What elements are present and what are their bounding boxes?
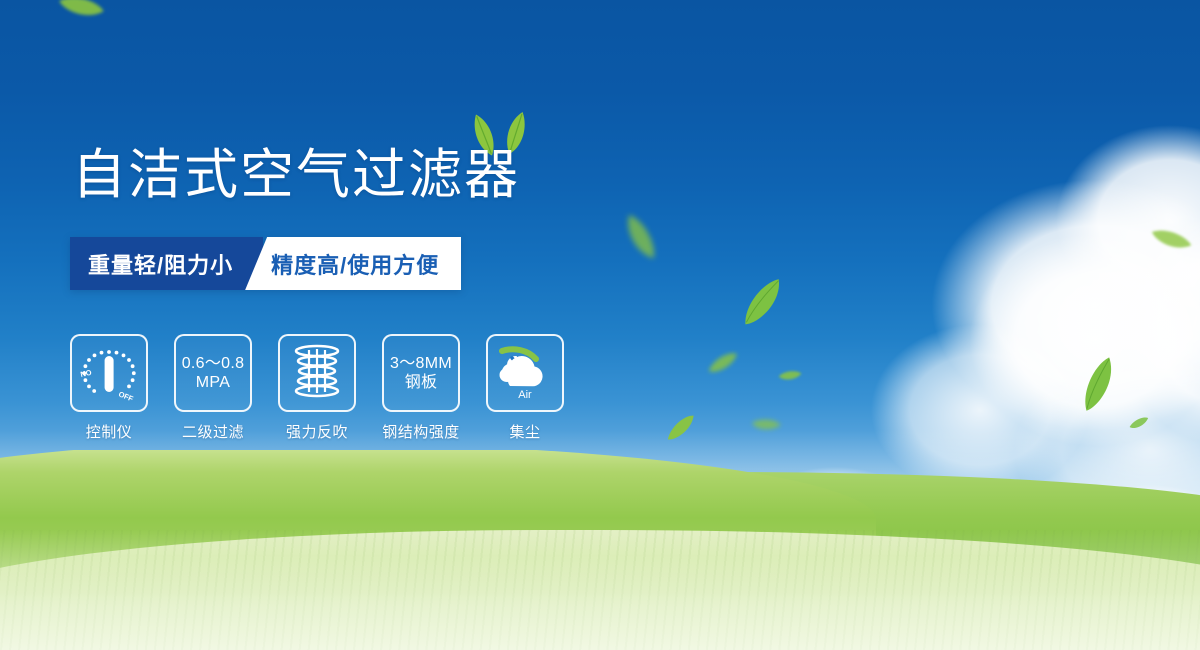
pressure-range-text: 0.6～0.8 bbox=[182, 354, 245, 373]
feature-icon-box: 3～8MM 钢板 bbox=[382, 334, 460, 412]
feature-label: 集尘 bbox=[509, 421, 540, 442]
feature-icon-box bbox=[278, 334, 356, 412]
feature-icon-strip: NO OFF 控制仪 0.6～0.8 MPA 二级过滤 bbox=[70, 334, 564, 442]
feature-item-dust-collection[interactable]: Air 集尘 bbox=[486, 334, 564, 442]
feature-item-steel-structure-strength[interactable]: 3～8MM 钢板 钢结构强度 bbox=[382, 334, 460, 442]
coil-filter-icon bbox=[289, 344, 345, 402]
feature-item-strong-backblow[interactable]: 强力反吹 bbox=[278, 334, 356, 442]
svg-text:Air: Air bbox=[518, 389, 532, 401]
feature-label: 强力反吹 bbox=[286, 421, 348, 442]
feature-icon-box: Air bbox=[486, 334, 564, 412]
pressure-unit-text: MPA bbox=[196, 373, 230, 392]
plate-material-text: 钢板 bbox=[405, 373, 438, 392]
feature-item-control-instrument[interactable]: NO OFF 控制仪 bbox=[70, 334, 148, 442]
product-hero-banner: 自洁式空气过滤器 重量轻/阻力小 精度高/使用方便 bbox=[0, 0, 1200, 650]
page-title: 自洁式空气过滤器 bbox=[72, 144, 520, 206]
subtitle-banner: 重量轻/阻力小 精度高/使用方便 bbox=[70, 237, 461, 290]
feature-icon-box: 0.6～0.8 MPA bbox=[174, 334, 252, 412]
feature-label: 钢结构强度 bbox=[382, 421, 460, 442]
hero-content: 自洁式空气过滤器 重量轻/阻力小 精度高/使用方便 bbox=[0, 0, 1200, 650]
svg-text:OFF: OFF bbox=[117, 390, 135, 402]
feature-icon-box: NO OFF bbox=[70, 334, 148, 412]
gauge-dial-icon: NO OFF bbox=[78, 344, 140, 402]
feature-item-secondary-filtration[interactable]: 0.6～0.8 MPA 二级过滤 bbox=[174, 334, 252, 442]
feature-label: 二级过滤 bbox=[182, 421, 244, 442]
plate-thickness-text: 3～8MM bbox=[390, 354, 452, 373]
air-cloud-icon: Air bbox=[494, 345, 556, 401]
feature-label: 控制仪 bbox=[86, 421, 133, 442]
subtitle-right-segment: 精度高/使用方便 bbox=[245, 237, 461, 290]
subtitle-left-segment: 重量轻/阻力小 bbox=[70, 237, 263, 290]
svg-text:NO: NO bbox=[80, 368, 93, 379]
